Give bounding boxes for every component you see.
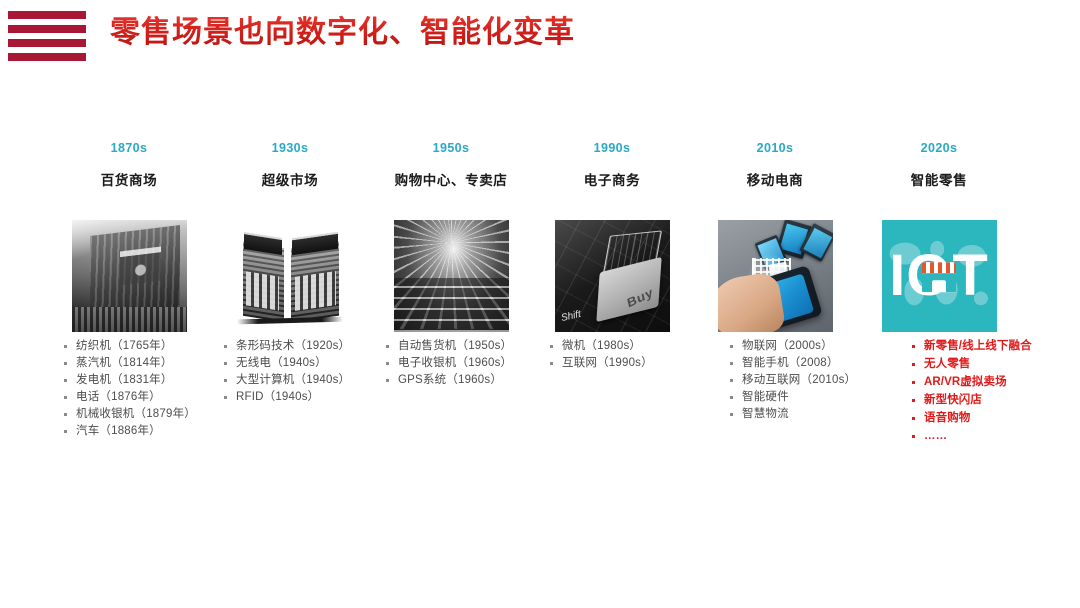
photo-detail — [72, 307, 187, 332]
photo-detail — [295, 271, 336, 310]
list-item: 发电机（1831年） — [62, 372, 230, 388]
bullet-list-1870s: 纺织机（1765年） 蒸汽机（1814年） 发电机（1831年） 电话（1876… — [62, 338, 230, 446]
list-item: 智能硬件 — [728, 389, 896, 405]
bullet-list-2020s: 新零售/线上线下融合 无人零售 AR/VR虚拟卖场 新型快闪店 语音购物 …… — [910, 338, 1078, 446]
shopping-mall-image — [394, 220, 509, 332]
decorative-bars — [8, 11, 86, 61]
era-label: 1930s — [272, 140, 309, 156]
list-item: 大型计算机（1940s） — [222, 372, 390, 388]
bullet-list-1990s: 微机（1980s） 互联网（1990s） — [548, 338, 716, 446]
list-item: 电话（1876年） — [62, 389, 230, 405]
list-item: 智能手机（2008） — [728, 355, 896, 371]
category-label: 超级市场 — [262, 172, 318, 190]
category-label: 电子商务 — [584, 172, 640, 190]
category-label: 购物中心、专卖店 — [395, 172, 508, 190]
photo-detail — [718, 271, 787, 332]
category-label: 移动电商 — [747, 172, 803, 190]
list-item: 智慧物流 — [728, 406, 896, 422]
era-label: 1990s — [594, 140, 631, 156]
bullet-list-2010s: 物联网（2000s） 智能手机（2008） 移动互联网（2010s） 智能硬件 … — [728, 338, 896, 446]
storefront-icon — [922, 262, 956, 292]
corner-store-image — [233, 220, 348, 332]
list-item: 条形码技术（1920s） — [222, 338, 390, 354]
list-item: 电子收银机（1960s） — [384, 355, 552, 371]
era-label: 1870s — [111, 140, 148, 156]
category-label: 百货商场 — [101, 172, 157, 190]
department-store-photo — [72, 220, 187, 332]
list-item: AR/VR虚拟卖场 — [910, 374, 1078, 391]
list-item: 语音购物 — [910, 410, 1078, 427]
list-item: 无人零售 — [910, 356, 1078, 373]
slide-header: 零售场景也向数字化、智能化变革 — [0, 0, 1080, 78]
photo-detail — [237, 317, 343, 325]
shopping-mall-photo — [394, 220, 509, 332]
list-item: GPS系统（1960s） — [384, 372, 552, 388]
list-item: 互联网（1990s） — [548, 355, 716, 371]
bullet-list-1950s: 自动售货机（1950s） 电子收银机（1960s） GPS系统（1960s） — [384, 338, 552, 446]
awning-detail — [922, 262, 956, 273]
iot-image: IOT — [882, 220, 997, 332]
list-item: 新零售/线上线下融合 — [910, 338, 1078, 355]
list-item: RFID（1940s） — [222, 389, 390, 405]
era-label: 1950s — [433, 140, 470, 156]
storefront-body — [922, 273, 956, 292]
list-item: 蒸汽机（1814年） — [62, 355, 230, 371]
page-title: 零售场景也向数字化、智能化变革 — [110, 13, 575, 53]
photo-detail — [246, 271, 279, 310]
era-label: 2020s — [921, 140, 958, 156]
list-item: 微机（1980s） — [548, 338, 716, 354]
department-store-image — [72, 220, 187, 332]
list-item: 纺织机（1765年） — [62, 338, 230, 354]
mobile-commerce-image — [718, 220, 833, 332]
list-item: 机械收银机（1879年） — [62, 406, 230, 422]
keyboard-image: Buy Shift — [555, 220, 670, 332]
era-label: 2010s — [757, 140, 794, 156]
bullet-list-1930s: 条形码技术（1920s） 无线电（1940s） 大型计算机（1940s） RFI… — [222, 338, 390, 446]
mobile-commerce-photo — [718, 220, 833, 332]
list-item: 自动售货机（1950s） — [384, 338, 552, 354]
corner-store-photo — [233, 220, 348, 332]
deco-bar — [8, 11, 86, 19]
list-item: …… — [910, 428, 1078, 445]
list-item: 汽车（1886年） — [62, 423, 230, 439]
deco-bar — [8, 53, 86, 61]
bullet-lists: 纺织机（1765年） 蒸汽机（1814年） 发电机（1831年） 电话（1876… — [0, 338, 1080, 446]
iot-graphic: IOT — [882, 220, 997, 332]
list-item: 移动互联网（2010s） — [728, 372, 896, 388]
keyboard-buy-key-photo: Buy Shift — [555, 220, 670, 332]
slide-canvas: 零售场景也向数字化、智能化变革 1870s 百货商场 1930s 超级市场 — [0, 0, 1080, 608]
list-item: 无线电（1940s） — [222, 355, 390, 371]
deco-bar — [8, 25, 86, 33]
list-item: 物联网（2000s） — [728, 338, 896, 354]
deco-bar — [8, 39, 86, 47]
list-item: 新型快闪店 — [910, 392, 1078, 409]
category-label: 智能零售 — [911, 172, 967, 190]
